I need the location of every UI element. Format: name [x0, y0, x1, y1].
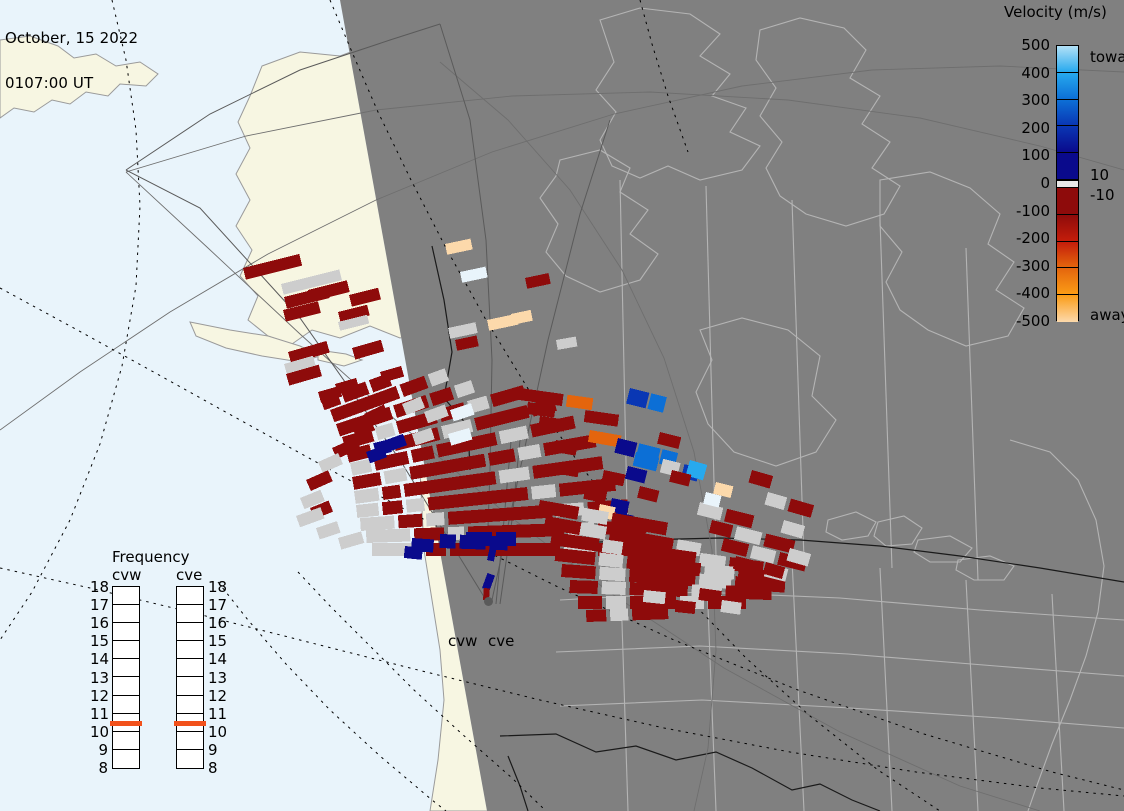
colorbar-tick-0: 0 [964, 174, 1050, 192]
colorbar-band-b500 [1057, 46, 1078, 73]
frequency-tick-cvw-12: 12 [90, 687, 108, 705]
title-date: October, 15 2022 [5, 31, 138, 46]
frequency-tick-cve-18: 18 [208, 578, 234, 596]
timestamp-title: October, 15 2022 0107:00 UT [5, 1, 138, 121]
colorbar-tick--400: -400 [964, 284, 1050, 302]
colorbar-label-toward: toward [1090, 48, 1124, 66]
frequency-tick-cvw-16: 16 [90, 614, 108, 632]
frequency-cell [113, 605, 139, 623]
colorbar-title: Velocity (m/s) [1004, 3, 1107, 21]
frequency-cell [113, 623, 139, 641]
frequency-tick-cve-14: 14 [208, 650, 234, 668]
title-time: 0107:00 UT [5, 76, 138, 91]
colorbar-band-zero [1057, 180, 1078, 188]
frequency-cell [113, 750, 139, 768]
frequency-tick-cve-8: 8 [208, 759, 234, 777]
frequency-cell [113, 641, 139, 659]
colorbar-band-r100 [1057, 188, 1078, 215]
frequency-tick-cve-9: 9 [208, 741, 234, 759]
frequency-tick-cvw-14: 14 [90, 650, 108, 668]
frequency-column-name-cve: cve [176, 566, 202, 584]
colorbar-label-neg-threshold: -10 [1090, 186, 1115, 204]
frequency-tick-cvw-9: 9 [90, 741, 108, 759]
frequency-tick-cve-17: 17 [208, 596, 234, 614]
frequency-tick-cvw-8: 8 [90, 759, 108, 777]
colorbar-band-r400 [1057, 268, 1078, 295]
frequency-cell [177, 605, 203, 623]
gate-group-alaska [243, 239, 577, 403]
map-label-cvw: cvw [448, 632, 477, 650]
frequency-tick-cvw-18: 18 [90, 578, 108, 596]
frequency-tick-cve-10: 10 [208, 723, 234, 741]
velocity-colorbar: Velocity (m/s) 5004003002001000-100-200-… [964, 0, 1124, 340]
frequency-bar-cvw [112, 586, 140, 769]
colorbar-band-r500 [1057, 295, 1078, 322]
frequency-cell [177, 696, 203, 714]
colorbar-label-away: away [1090, 306, 1124, 324]
colorbar-tick--200: -200 [964, 229, 1050, 247]
colorbar-label-pos-threshold: 10 [1090, 166, 1109, 184]
colorbar-tick-200: 200 [964, 119, 1050, 137]
frequency-tick-cvw-17: 17 [90, 596, 108, 614]
gate-group-east [518, 388, 814, 622]
colorbar-band-b200 [1057, 126, 1078, 153]
frequency-tick-cve-16: 16 [208, 614, 234, 632]
frequency-tick-cvw-11: 11 [90, 705, 108, 723]
frequency-title: Frequency [112, 548, 190, 566]
frequency-cell [113, 732, 139, 750]
colorbar-band-b100 [1057, 153, 1078, 180]
frequency-tick-cvw-13: 13 [90, 669, 108, 687]
frequency-tick-cve-13: 13 [208, 669, 234, 687]
frequency-cell [177, 732, 203, 750]
frequency-tick-cve-15: 15 [208, 632, 234, 650]
frequency-tick-cvw-10: 10 [90, 723, 108, 741]
map-label-cve: cve [488, 632, 514, 650]
frequency-cell [113, 659, 139, 677]
gate-group-core [320, 368, 646, 600]
colorbar-band-b400 [1057, 73, 1078, 100]
frequency-cell [177, 677, 203, 695]
colorbar-band-b300 [1057, 100, 1078, 127]
radar-station-dot [484, 597, 493, 606]
frequency-marker-cvw [110, 721, 142, 726]
frequency-cell [177, 659, 203, 677]
colorbar-gradient [1056, 45, 1079, 321]
colorbar-band-r300 [1057, 242, 1078, 269]
colorbar-tick-400: 400 [964, 64, 1050, 82]
frequency-legend: Frequency cvw cve 1817161514131211109818… [90, 548, 240, 788]
frequency-cell [177, 623, 203, 641]
colorbar-tick-500: 500 [964, 36, 1050, 54]
colorbar-tick--500: -500 [964, 312, 1050, 330]
frequency-tick-cvw-15: 15 [90, 632, 108, 650]
frequency-marker-cve [174, 721, 206, 726]
frequency-cell [113, 696, 139, 714]
frequency-cell [113, 677, 139, 695]
frequency-cell [177, 641, 203, 659]
frequency-bar-cve [176, 586, 204, 769]
frequency-cell [113, 587, 139, 605]
colorbar-band-r200 [1057, 215, 1078, 242]
frequency-cell [177, 750, 203, 768]
colorbar-tick-100: 100 [964, 146, 1050, 164]
frequency-tick-cve-12: 12 [208, 687, 234, 705]
colorbar-tick--300: -300 [964, 257, 1050, 275]
frequency-cell [177, 587, 203, 605]
frequency-column-name-cvw: cvw [112, 566, 141, 584]
frequency-tick-cve-11: 11 [208, 705, 234, 723]
colorbar-tick--100: -100 [964, 202, 1050, 220]
radar-velocity-map: October, 15 2022 0107:00 UT Velocity (m/… [0, 0, 1124, 811]
colorbar-tick-300: 300 [964, 91, 1050, 109]
